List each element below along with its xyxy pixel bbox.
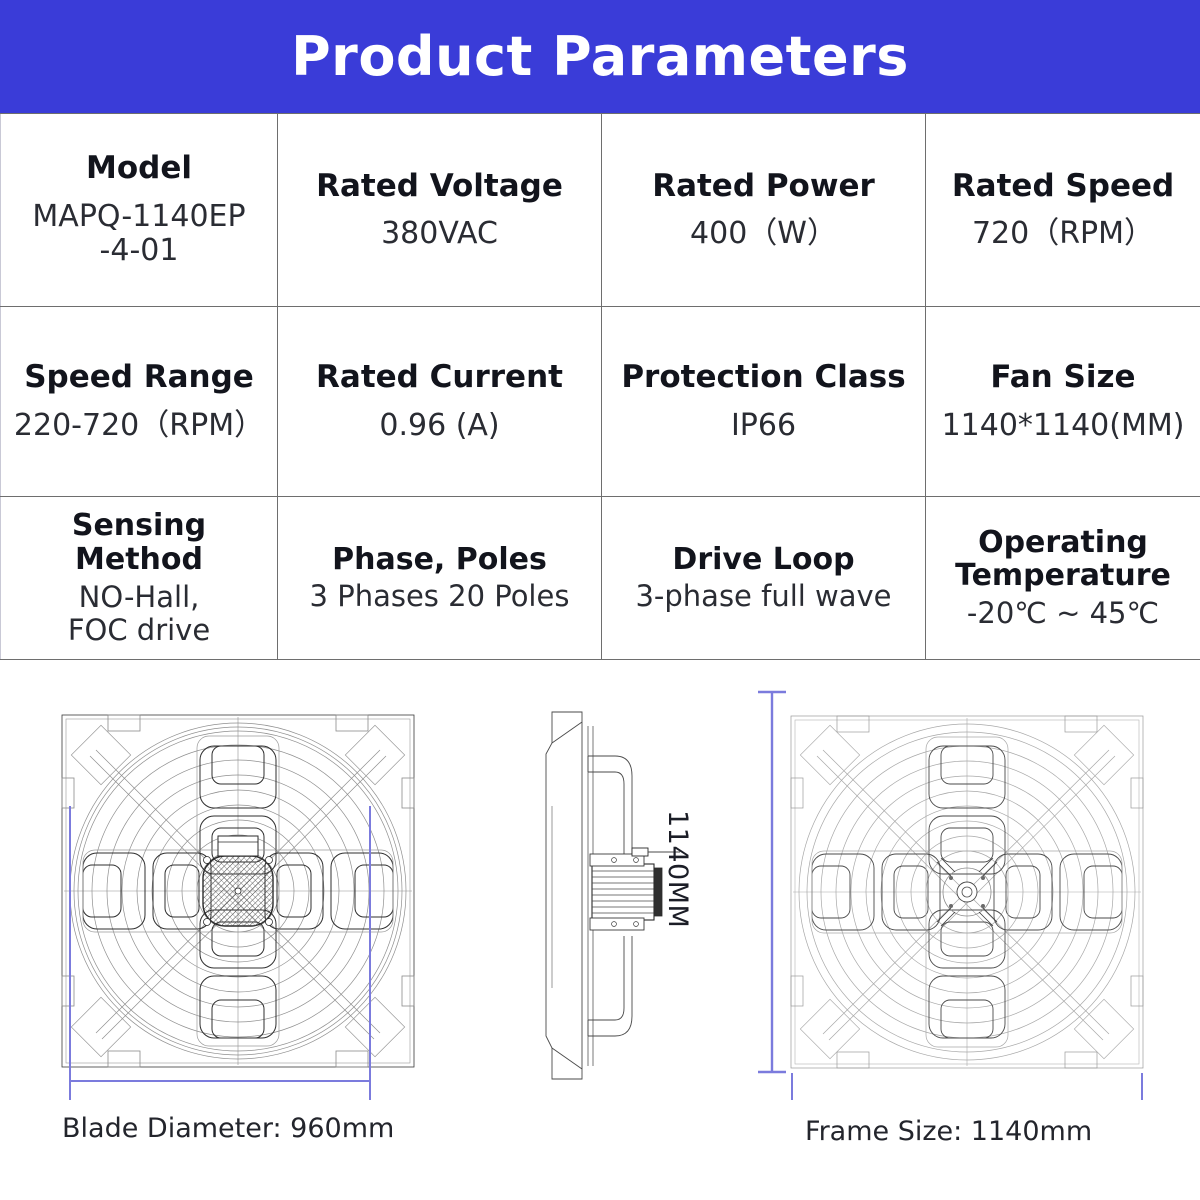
param-label: Sensing Method bbox=[5, 509, 273, 576]
param-label: Protection Class bbox=[621, 360, 905, 395]
table-row: Speed Range 220-720（RPM） Rated Current 0… bbox=[1, 307, 1200, 497]
param-label: Fan Size bbox=[990, 360, 1135, 395]
param-label: Rated Speed bbox=[952, 169, 1174, 204]
param-cell-operating-temperature: Operating Temperature -20℃ ~ 45℃ bbox=[926, 497, 1200, 660]
height-dimension-line bbox=[752, 682, 792, 1102]
param-cell-rated-power: Rated Power 400（W） bbox=[602, 114, 926, 307]
param-value: 220-720（RPM） bbox=[14, 409, 264, 443]
param-value: 0.96 (A) bbox=[379, 409, 499, 443]
table-row: Sensing Method NO-Hall, FOC drive Phase,… bbox=[1, 497, 1200, 660]
fan-front-view-drawing bbox=[40, 688, 490, 1103]
param-cell-phase-poles: Phase, Poles 3 Phases 20 Poles bbox=[278, 497, 602, 660]
param-cell-protection-class: Protection Class IP66 bbox=[602, 307, 926, 497]
param-value: 380VAC bbox=[381, 217, 498, 251]
param-label: Rated Voltage bbox=[316, 169, 563, 204]
param-value: IP66 bbox=[731, 409, 796, 443]
param-value: 720（RPM） bbox=[972, 217, 1154, 251]
param-value: 3 Phases 20 Poles bbox=[310, 580, 570, 613]
height-dimension-label: 1140MM bbox=[662, 810, 693, 928]
product-parameters-table: Model MAPQ-1140EP -4-01 Rated Voltage 38… bbox=[0, 113, 1200, 660]
param-value: MAPQ-1140EP -4-01 bbox=[32, 200, 245, 268]
param-cell-rated-current: Rated Current 0.96 (A) bbox=[278, 307, 602, 497]
motor-hub bbox=[203, 836, 273, 926]
table-row: Model MAPQ-1140EP -4-01 Rated Voltage 38… bbox=[1, 114, 1200, 307]
param-value: -20℃ ~ 45℃ bbox=[967, 597, 1159, 630]
technical-drawings-section: 1140MM Blade Diameter: 960mm Frame Size:… bbox=[0, 660, 1200, 1195]
fan-rear-view-drawing bbox=[775, 688, 1200, 1103]
param-cell-rated-voltage: Rated Voltage 380VAC bbox=[278, 114, 602, 307]
param-cell-fan-size: Fan Size 1140*1140(MM) bbox=[926, 307, 1200, 497]
param-label: Speed Range bbox=[24, 360, 254, 395]
param-cell-sensing-method: Sensing Method NO-Hall, FOC drive bbox=[1, 497, 278, 660]
param-label: Drive Loop bbox=[672, 543, 854, 577]
param-cell-model: Model MAPQ-1140EP -4-01 bbox=[1, 114, 278, 307]
page-header-banner: Product Parameters bbox=[0, 0, 1200, 113]
param-value: 400（W） bbox=[690, 217, 837, 251]
param-label: Rated Power bbox=[652, 169, 875, 204]
param-value: NO-Hall, FOC drive bbox=[68, 581, 210, 647]
param-value: 1140*1140(MM) bbox=[942, 409, 1185, 443]
front-view-caption: Blade Diameter: 960mm bbox=[62, 1115, 394, 1142]
param-value: 3-phase full wave bbox=[635, 580, 891, 613]
page-title: Product Parameters bbox=[291, 30, 909, 84]
param-label: Phase, Poles bbox=[332, 543, 547, 577]
param-label: Rated Current bbox=[316, 360, 563, 395]
param-label: Operating Temperature bbox=[955, 526, 1171, 593]
param-cell-rated-speed: Rated Speed 720（RPM） bbox=[926, 114, 1200, 307]
rear-view-caption: Frame Size: 1140mm bbox=[805, 1118, 1092, 1145]
frame-size-dimension bbox=[792, 1073, 1142, 1100]
param-label: Model bbox=[86, 151, 192, 186]
param-cell-speed-range: Speed Range 220-720（RPM） bbox=[1, 307, 278, 497]
param-cell-drive-loop: Drive Loop 3-phase full wave bbox=[602, 497, 926, 660]
